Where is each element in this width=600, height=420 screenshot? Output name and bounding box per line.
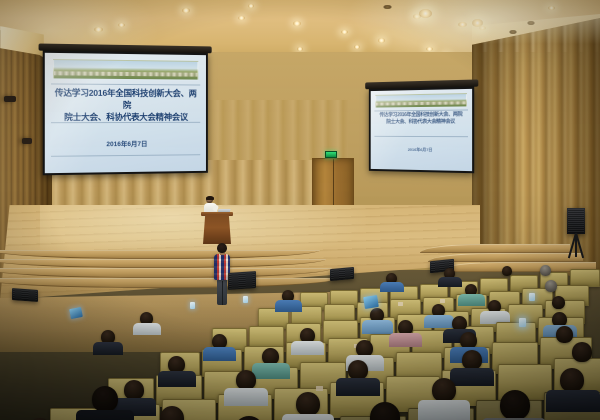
tripod-leg [575, 233, 577, 257]
phone-device[interactable] [243, 296, 248, 303]
auditorium-scene: 传达学习2016年全国科技创新大会、两院 院士大会、科协代表大会精神会议 201… [0, 0, 600, 420]
phone-device[interactable] [519, 318, 526, 327]
downlight [354, 45, 360, 49]
slide-title: 传达学习2016年全国科技创新大会、两院 院士大会、科协代表大会精神会议 [51, 87, 199, 124]
audience-shoulders [203, 347, 236, 361]
wall-speaker-icon [22, 138, 32, 144]
audience-head [540, 265, 551, 276]
downlight [94, 27, 103, 32]
speaker-grille [568, 209, 584, 233]
audience-head [552, 296, 565, 309]
audience-head [462, 350, 482, 370]
downlight [458, 22, 467, 27]
stage-step-right [420, 244, 570, 253]
phone-device[interactable] [190, 302, 195, 309]
audience-shoulders [450, 368, 494, 386]
tripod-pa-speaker [567, 208, 585, 234]
downlight [118, 23, 125, 27]
main-projection-screen: 传达学习2016年全国科技创新大会、两院 院士大会、科协代表大会精神会议 201… [43, 51, 208, 176]
audience-shoulders [438, 277, 462, 287]
downlight [297, 47, 303, 51]
audience-head [572, 342, 592, 362]
slide-photo-band [53, 59, 198, 81]
slide-title: 传达学习2016年全国科技创新大会、两院 院士大会、科协代表大会精神会议 [375, 112, 468, 127]
phone-device[interactable] [529, 293, 535, 301]
audience-head [545, 280, 557, 292]
slide-divider-mid [375, 136, 468, 137]
audience-shoulders [158, 371, 196, 387]
audience-shoulders [224, 388, 268, 406]
slide-date: 2016年6月7日 [371, 146, 472, 153]
audience-shoulders [546, 390, 600, 412]
side-projection-screen: 传达学习2016年全国科技创新大会、两院 院士大会、科协代表大会精神会议 201… [369, 87, 474, 174]
audience-shoulders [389, 333, 422, 347]
ceiling-vent [383, 5, 392, 9]
downlight [419, 9, 432, 18]
slide-divider-mid [51, 122, 199, 123]
downlight [378, 38, 385, 43]
audience-shoulders [380, 282, 404, 292]
audience-shoulders [424, 315, 454, 328]
seat-number-tag [316, 386, 323, 391]
wooden-lectern [203, 214, 231, 244]
downlight [182, 8, 190, 13]
seat-number-tag [440, 299, 445, 303]
audience-shoulders [252, 363, 290, 379]
audience-head [432, 378, 456, 402]
audience-head [556, 326, 573, 343]
slide-photo-band [376, 93, 467, 108]
audience-head [92, 386, 118, 412]
exit-sign-icon [325, 151, 337, 158]
audience-area [0, 268, 600, 420]
audience-shoulders [291, 341, 324, 355]
slide-title-line-1: 传达学习2016年全国科技创新大会、两院 [51, 87, 199, 112]
slide-date: 2016年6月7日 [45, 137, 206, 148]
audience-head [500, 390, 530, 420]
audience-head [296, 392, 320, 416]
downlight [426, 47, 433, 51]
tablet-device[interactable] [363, 295, 379, 309]
wall-speaker-icon [4, 96, 16, 102]
downlight [341, 30, 348, 34]
side-slide: 传达学习2016年全国科技创新大会、两院 院士大会、科协代表大会精神会议 201… [371, 89, 472, 171]
seat-number-tag [398, 302, 403, 306]
audience-shoulders [458, 294, 485, 306]
audience-head [236, 370, 256, 390]
audience-shoulders [275, 300, 302, 312]
audience-shoulders [93, 342, 123, 355]
plaid-person-head [217, 243, 227, 253]
audience-shoulders [76, 410, 134, 420]
audience-shoulders [282, 414, 334, 420]
presenter-hair [206, 196, 214, 200]
audience-shoulders [418, 400, 470, 420]
audience-head [502, 266, 512, 276]
audience-shoulders [133, 323, 161, 335]
audience-head [560, 368, 584, 392]
audience-shoulders [336, 378, 380, 396]
slide-divider-bottom [51, 155, 199, 158]
audience-head [348, 360, 368, 380]
tablet-device[interactable] [69, 307, 83, 319]
downlight [238, 16, 245, 20]
downlight [248, 4, 254, 8]
slide-divider-top [51, 83, 199, 85]
audience-shoulders [362, 320, 393, 334]
main-slide: 传达学习2016年全国科技创新大会、两院 院士大会、科协代表大会精神会议 201… [45, 53, 206, 173]
downlight [548, 6, 555, 10]
audience-head [124, 380, 144, 400]
slide-title-line-2: 院士大会、科协代表大会精神会议 [375, 119, 468, 126]
downlight [293, 21, 301, 26]
